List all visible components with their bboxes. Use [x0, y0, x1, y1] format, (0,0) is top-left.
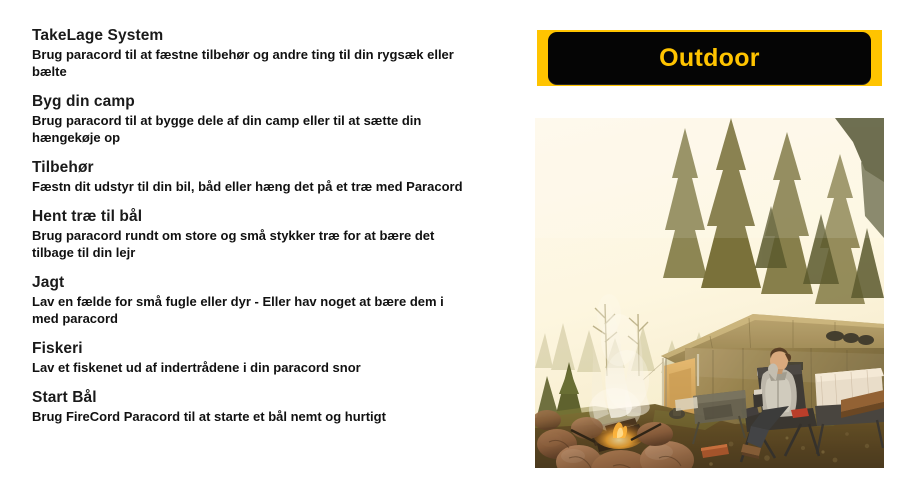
use-title: Jagt [32, 273, 482, 292]
use-description: Brug FireCord Paracord til at starte et … [32, 408, 464, 425]
use-title: Fiskeri [32, 339, 482, 358]
campsite-photo [535, 118, 884, 468]
campsite-illustration [535, 118, 884, 468]
use-title: TakeLage System [32, 26, 482, 45]
paracord-uses-list: TakeLage System Brug paracord til at fæs… [32, 26, 482, 425]
use-description: Lav en fælde for små fugle eller dyr - E… [32, 293, 464, 327]
list-item: Start Bål Brug FireCord Paracord til at … [32, 388, 482, 425]
use-title: Hent træ til bål [32, 207, 482, 226]
list-item: Byg din camp Brug paracord til at bygge … [32, 92, 482, 146]
use-description: Brug paracord til at bygge dele af din c… [32, 112, 464, 146]
slide-root: TakeLage System Brug paracord til at fæs… [0, 0, 920, 500]
use-title: Byg din camp [32, 92, 482, 111]
list-item: Hent træ til bål Brug paracord rundt om … [32, 207, 482, 261]
use-description: Brug paracord rundt om store og små styk… [32, 227, 464, 261]
use-title: Start Bål [32, 388, 482, 407]
outdoor-banner: Outdoor [537, 30, 882, 86]
banner-label: Outdoor [659, 46, 760, 71]
use-description: Fæstn dit udstyr til din bil, båd eller … [32, 178, 464, 195]
list-item: TakeLage System Brug paracord til at fæs… [32, 26, 482, 80]
use-description: Brug paracord til at fæstne tilbehør og … [32, 46, 464, 80]
list-item: Jagt Lav en fælde for små fugle eller dy… [32, 273, 482, 327]
list-item: Tilbehør Fæstn dit udstyr til din bil, b… [32, 158, 482, 195]
use-description: Lav et fiskenet ud af indertrådene i din… [32, 359, 464, 376]
banner-plate: Outdoor [548, 32, 871, 84]
list-item: Fiskeri Lav et fiskenet ud af indertråde… [32, 339, 482, 376]
use-title: Tilbehør [32, 158, 482, 177]
